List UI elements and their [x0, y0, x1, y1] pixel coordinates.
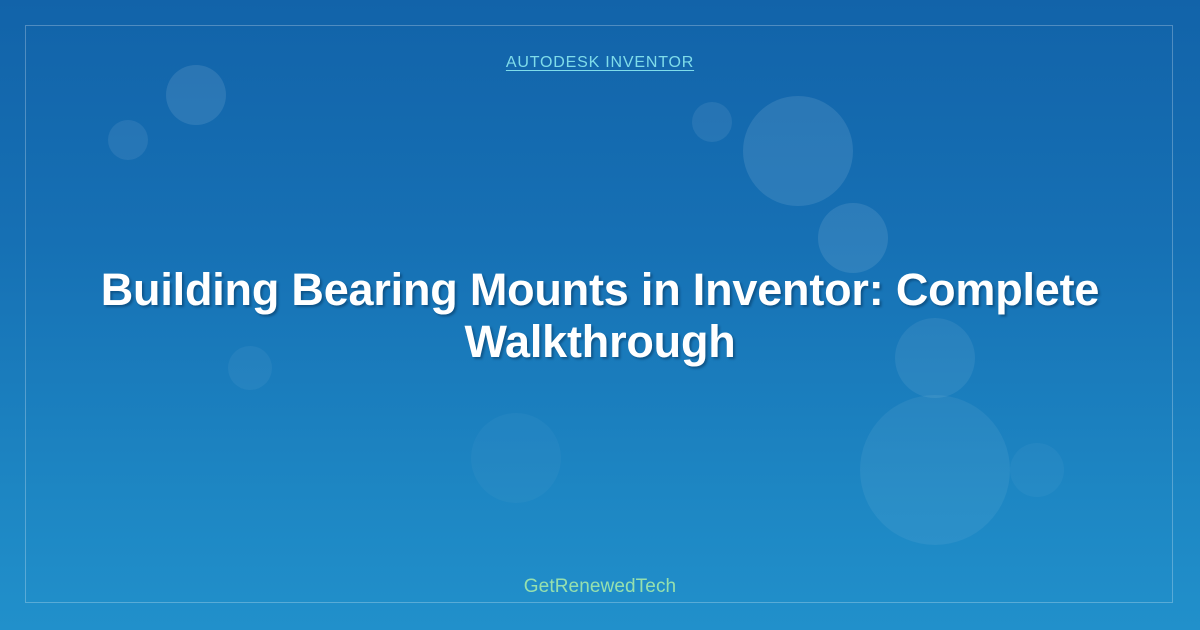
- card-content: AUTODESK INVENTOR Building Bearing Mount…: [0, 0, 1200, 630]
- social-share-card: AUTODESK INVENTOR Building Bearing Mount…: [0, 0, 1200, 630]
- title-block: Building Bearing Mounts in Inventor: Com…: [0, 264, 1200, 368]
- page-title: Building Bearing Mounts in Inventor: Com…: [92, 264, 1108, 368]
- category-eyebrow-label: AUTODESK INVENTOR: [0, 54, 1200, 72]
- brand-footer: GetRenewedTech: [0, 576, 1200, 598]
